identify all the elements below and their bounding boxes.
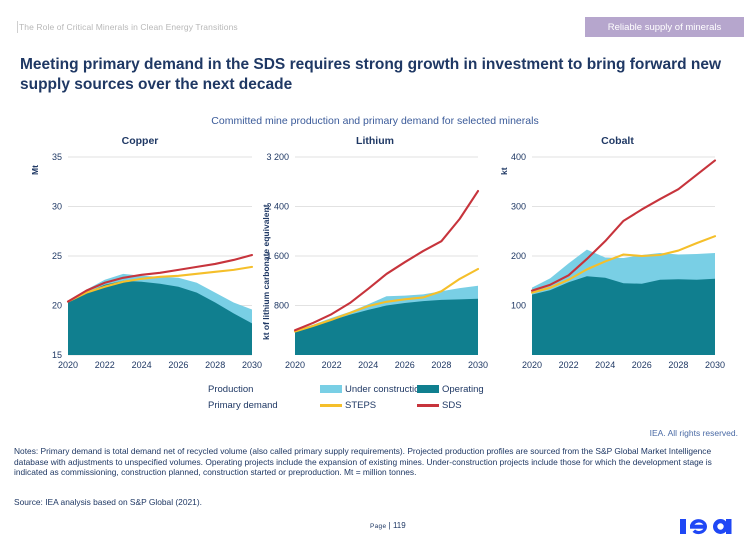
page-word: Page	[370, 523, 386, 530]
page-number: Page | 119	[370, 521, 406, 530]
page-separator: |	[389, 521, 391, 530]
svg-text:2030: 2030	[468, 360, 488, 370]
svg-text:20: 20	[52, 301, 62, 311]
svg-text:100: 100	[511, 301, 526, 311]
breadcrumb-rule	[17, 21, 18, 33]
svg-text:400: 400	[511, 152, 526, 162]
svg-text:2022: 2022	[559, 360, 579, 370]
chart-panel-copper: Copper Mt 152025303520202022202420262028…	[20, 135, 260, 380]
breadcrumb: The Role of Critical Minerals in Clean E…	[19, 22, 238, 32]
chart-panel-cobalt: Cobalt kt 100200300400202020222024202620…	[490, 135, 745, 380]
page-value: 119	[393, 521, 406, 530]
page-title: Meeting primary demand in the SDS requir…	[20, 55, 730, 95]
notes-text: Notes: Primary demand is total demand ne…	[14, 446, 736, 478]
svg-text:2030: 2030	[705, 360, 725, 370]
legend-swatch-under-construction-icon	[320, 385, 342, 393]
svg-text:300: 300	[511, 202, 526, 212]
svg-text:1 600: 1 600	[266, 251, 289, 261]
page-header: The Role of Critical Minerals in Clean E…	[0, 0, 750, 44]
iea-logo-icon	[680, 514, 732, 538]
svg-text:2020: 2020	[58, 360, 78, 370]
svg-text:2020: 2020	[285, 360, 305, 370]
svg-text:2022: 2022	[322, 360, 342, 370]
svg-text:2026: 2026	[632, 360, 652, 370]
iea-logo	[680, 514, 732, 538]
svg-text:200: 200	[511, 251, 526, 261]
svg-text:2 400: 2 400	[266, 202, 289, 212]
svg-text:2024: 2024	[132, 360, 152, 370]
svg-text:2028: 2028	[668, 360, 688, 370]
legend-item-operating: Operating	[417, 384, 484, 395]
legend-line-steps-icon	[320, 404, 342, 407]
chart-subtitle: Committed mine production and primary de…	[0, 115, 750, 127]
chart-plot-lithium: 8001 6002 4003 2002020202220242026202820…	[250, 135, 500, 380]
svg-text:2022: 2022	[95, 360, 115, 370]
legend-item-sds: SDS	[417, 400, 462, 411]
svg-text:30: 30	[52, 202, 62, 212]
svg-text:2028: 2028	[205, 360, 225, 370]
legend-text-steps: STEPS	[345, 400, 376, 411]
legend-swatch-operating-icon	[417, 385, 439, 393]
rights-notice: IEA. All rights reserved.	[650, 428, 738, 438]
chart-plot-copper: 1520253035202020222024202620282030	[20, 135, 260, 380]
legend-group-production: Production	[208, 384, 253, 395]
svg-text:2024: 2024	[595, 360, 615, 370]
legend-line-sds-icon	[417, 404, 439, 407]
legend-group-primary-demand: Primary demand	[208, 400, 278, 411]
charts-container: Copper Mt 152025303520202022202420262028…	[0, 135, 750, 380]
svg-text:2020: 2020	[522, 360, 542, 370]
chart-plot-cobalt: 100200300400202020222024202620282030	[490, 135, 745, 380]
source-text: Source: IEA analysis based on S&P Global…	[14, 497, 514, 508]
legend-item-under-construction: Under construction	[320, 384, 425, 395]
svg-text:2028: 2028	[431, 360, 451, 370]
svg-text:3 200: 3 200	[266, 152, 289, 162]
legend-text-sds: SDS	[442, 400, 462, 411]
svg-text:25: 25	[52, 251, 62, 261]
legend-text-under-construction: Under construction	[345, 384, 425, 395]
chart-legend: Production Primary demand Under construc…	[0, 382, 750, 416]
svg-text:2024: 2024	[358, 360, 378, 370]
svg-text:35: 35	[52, 152, 62, 162]
svg-text:800: 800	[274, 301, 289, 311]
svg-text:2026: 2026	[395, 360, 415, 370]
legend-text-operating: Operating	[442, 384, 484, 395]
svg-text:2026: 2026	[168, 360, 188, 370]
legend-item-steps: STEPS	[320, 400, 376, 411]
svg-text:15: 15	[52, 350, 62, 360]
section-badge: Reliable supply of minerals	[585, 17, 744, 37]
chart-panel-lithium: Lithium kt of lithium carbonate equivale…	[250, 135, 500, 380]
